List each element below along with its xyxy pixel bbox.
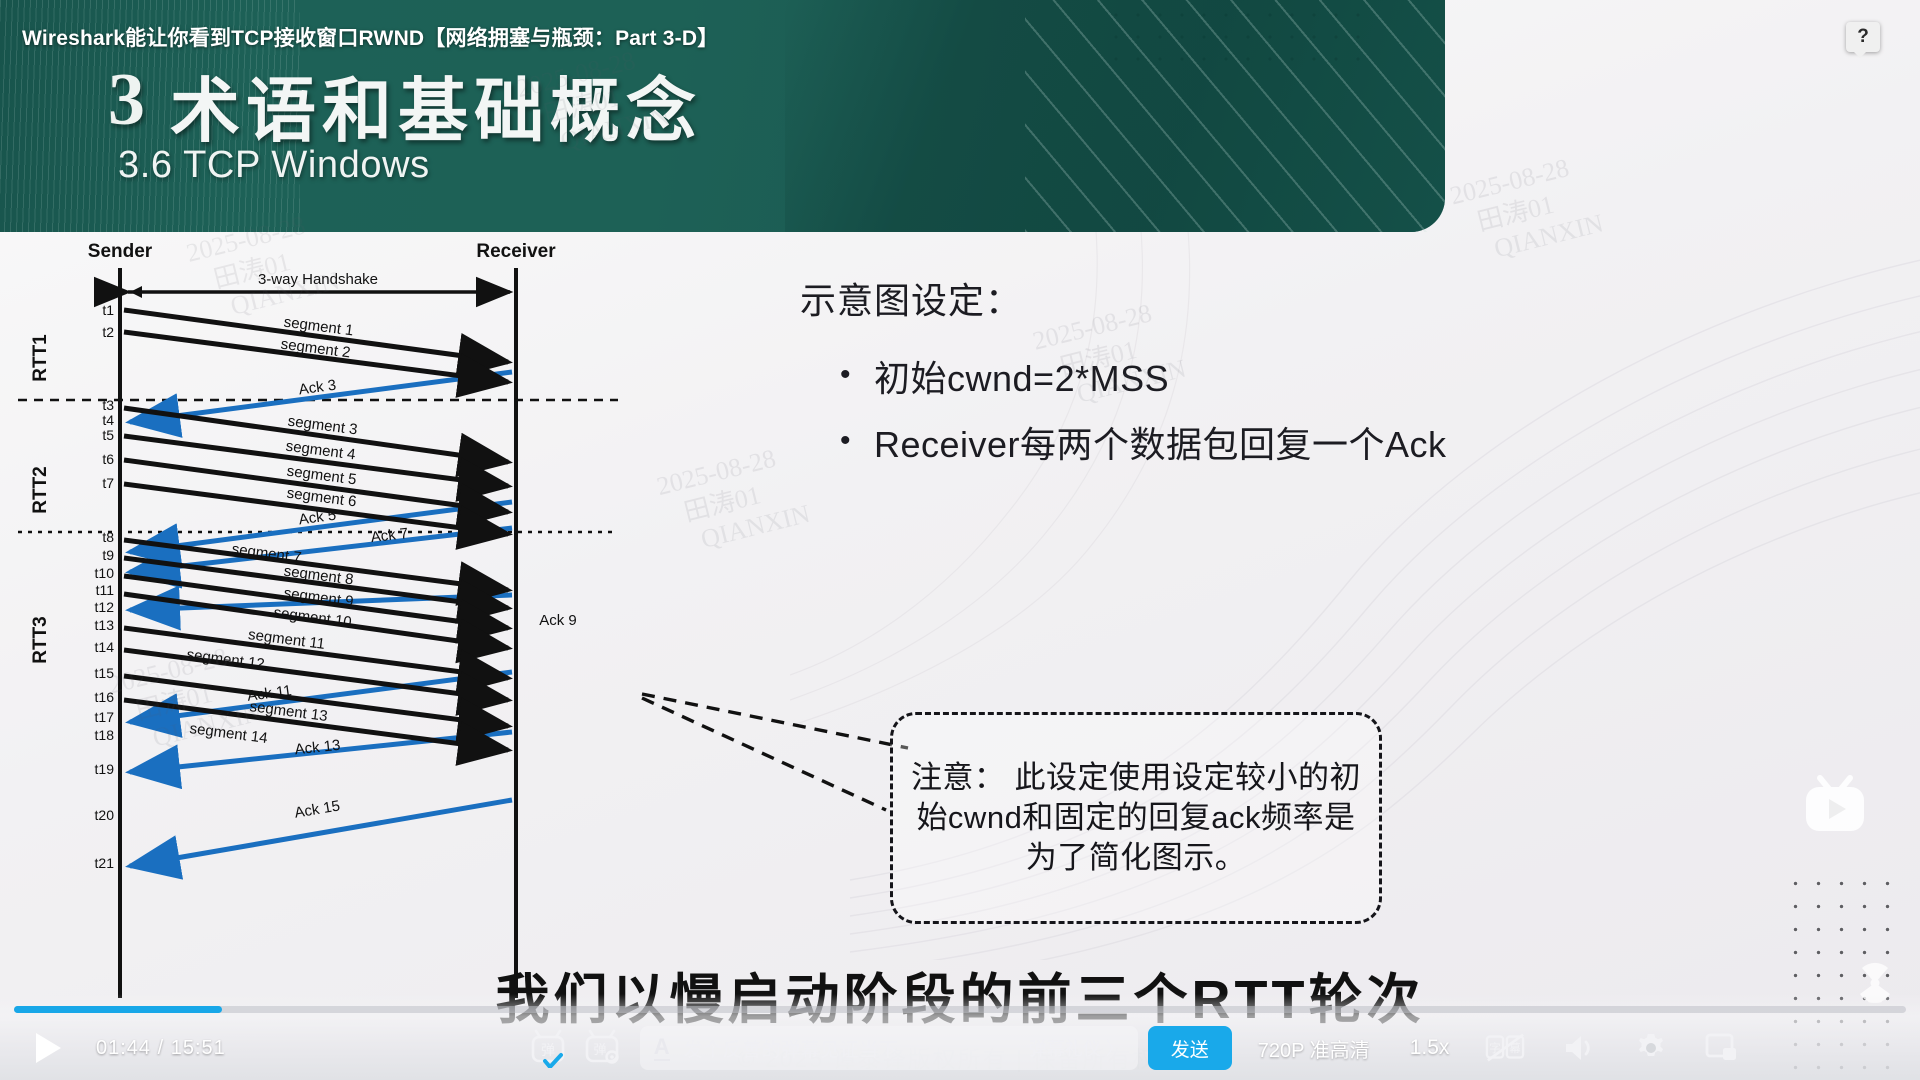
- danmaku-input[interactable]: 发个反善的弹幕见证当下: [684, 1035, 899, 1062]
- time-tick: t20: [95, 807, 115, 823]
- rtt-group-label: RTT2: [30, 466, 51, 514]
- subtitle-off-icon: 字 幕: [1485, 1032, 1525, 1064]
- time-tick: t10: [95, 565, 115, 581]
- segment-label: segment 12: [186, 646, 266, 673]
- receiver-label: Receiver: [476, 241, 556, 262]
- slide-canvas: Wireshark能让你看到TCP接收窗口RWND【网络拥塞与瓶颈：Part 3…: [0, 0, 1920, 1080]
- subtitle-toggle-button[interactable]: 字 幕: [1485, 1033, 1525, 1063]
- callout-box: 注意： 此设定使用设定较小的初始cwnd和固定的回复ack频率是为了简化图示。: [890, 712, 1382, 924]
- font-style-icon[interactable]: A: [654, 1036, 670, 1061]
- time-tick: t6: [102, 451, 114, 467]
- gear-icon: [1635, 1032, 1667, 1064]
- ack-label: Ack 13: [294, 737, 341, 759]
- time-display: 01:44 / 15:51: [96, 1037, 226, 1060]
- volume-icon: [1563, 1033, 1597, 1063]
- control-row: 01:44 / 15:51 弹 弹: [0, 1016, 1920, 1080]
- time-tick: t16: [95, 689, 115, 705]
- send-danmaku-button[interactable]: 发送: [1148, 1026, 1232, 1070]
- time-tick: t8: [102, 529, 114, 545]
- time-tick: t9: [102, 547, 114, 563]
- danmaku-settings-button[interactable]: 弹: [580, 1026, 624, 1070]
- right-control-icons: 字 幕: [1485, 1032, 1739, 1064]
- time-tick: t14: [95, 639, 115, 655]
- time-tick: t1: [102, 302, 114, 318]
- time-tick: t7: [102, 475, 114, 491]
- segment-arrow: [124, 650, 508, 700]
- danmaku-on-icon: 弹: [528, 1028, 568, 1068]
- help-icon: ?: [1857, 26, 1869, 48]
- danmaku-toggle-button[interactable]: 弹: [526, 1026, 570, 1070]
- playback-speed-selector[interactable]: 1.5x: [1410, 1036, 1450, 1060]
- picture-in-picture-button[interactable]: [1705, 1033, 1739, 1063]
- time-tick: t18: [95, 727, 115, 743]
- body-title: 示意图设定：: [800, 272, 1022, 324]
- time-tick: t12: [95, 599, 115, 615]
- time-tick: t4: [102, 412, 114, 428]
- video-player: Wireshark能让你看到TCP接收窗口RWND【网络拥塞与瓶颈：Part 3…: [0, 0, 1920, 1080]
- svg-text:弹: 弹: [541, 1042, 555, 1058]
- time-tick: t11: [96, 582, 115, 598]
- bullet-text: 初始cwnd=2*MSS: [874, 350, 1169, 402]
- volume-button[interactable]: [1563, 1033, 1597, 1063]
- rtt-group-label: RTT1: [30, 334, 51, 382]
- picture-in-picture-icon: [1705, 1033, 1739, 1063]
- bullet-list: • 初始cwnd=2*MSS • Receiver每两个数据包回复一个Ack: [840, 350, 1600, 482]
- bullet-text: Receiver每两个数据包回复一个Ack: [874, 416, 1447, 468]
- rtt-group-label: RTT3: [30, 616, 51, 664]
- danmaku-etiquette-link[interactable]: 弹幕礼仪 〉: [1029, 1035, 1124, 1061]
- time-tick: t17: [95, 709, 115, 725]
- handshake-label: 3-way Handshake: [258, 271, 378, 288]
- time-tick: t3: [102, 397, 114, 413]
- bullet-dot-icon: •: [840, 350, 874, 390]
- tcp-sequence-diagram: Sender Receiver RTT1 RTT2 RTT3 3-way Han…: [18, 240, 778, 1000]
- progress-bar[interactable]: [14, 1006, 1906, 1013]
- send-button-label: 发送: [1171, 1035, 1209, 1062]
- segment-label: segment 14: [189, 720, 269, 747]
- slide-subheading: 3.6 TCP Windows: [118, 144, 430, 187]
- help-tooltip-button[interactable]: ?: [1846, 22, 1880, 52]
- settings-button[interactable]: [1635, 1032, 1667, 1064]
- ack-label: Ack 15: [293, 797, 341, 821]
- progress-fill: [14, 1006, 222, 1013]
- list-item: • 初始cwnd=2*MSS: [840, 350, 1600, 402]
- svg-text:弹: 弹: [593, 1042, 606, 1057]
- time-tick: t13: [95, 617, 115, 633]
- video-title: Wireshark能让你看到TCP接收窗口RWND【网络拥塞与瓶颈：Part 3…: [22, 22, 718, 52]
- player-control-bar: 01:44 / 15:51 弹 弹: [0, 994, 1920, 1080]
- ack-label: Ack 9: [539, 612, 577, 629]
- sender-label: Sender: [88, 241, 153, 262]
- bilibili-tv-logo-icon: [1798, 774, 1872, 840]
- time-tick: t15: [95, 665, 115, 681]
- danmaku-input-wrapper[interactable]: A 发个反善的弹幕见证当下 弹幕礼仪 〉: [640, 1026, 1138, 1070]
- header-diagonal-lines: [1025, 0, 1445, 232]
- danmaku-settings-icon: 弹: [582, 1028, 622, 1068]
- slide-heading: 术语和基础概念: [170, 55, 702, 156]
- list-item: • Receiver每两个数据包回复一个Ack: [840, 416, 1600, 468]
- time-tick: t5: [102, 427, 114, 443]
- time-tick: t2: [102, 324, 114, 340]
- time-tick: t19: [95, 761, 115, 777]
- slide-number: 3: [108, 58, 145, 143]
- quality-selector[interactable]: 720P 准高清: [1258, 1034, 1370, 1063]
- time-tick: t21: [95, 855, 115, 871]
- bullet-dot-icon: •: [840, 416, 874, 456]
- callout-text: 注意： 此设定使用设定较小的初始cwnd和固定的回复ack频率是为了简化图示。: [893, 758, 1379, 879]
- play-icon: [33, 1031, 63, 1065]
- play-button[interactable]: [18, 1031, 78, 1065]
